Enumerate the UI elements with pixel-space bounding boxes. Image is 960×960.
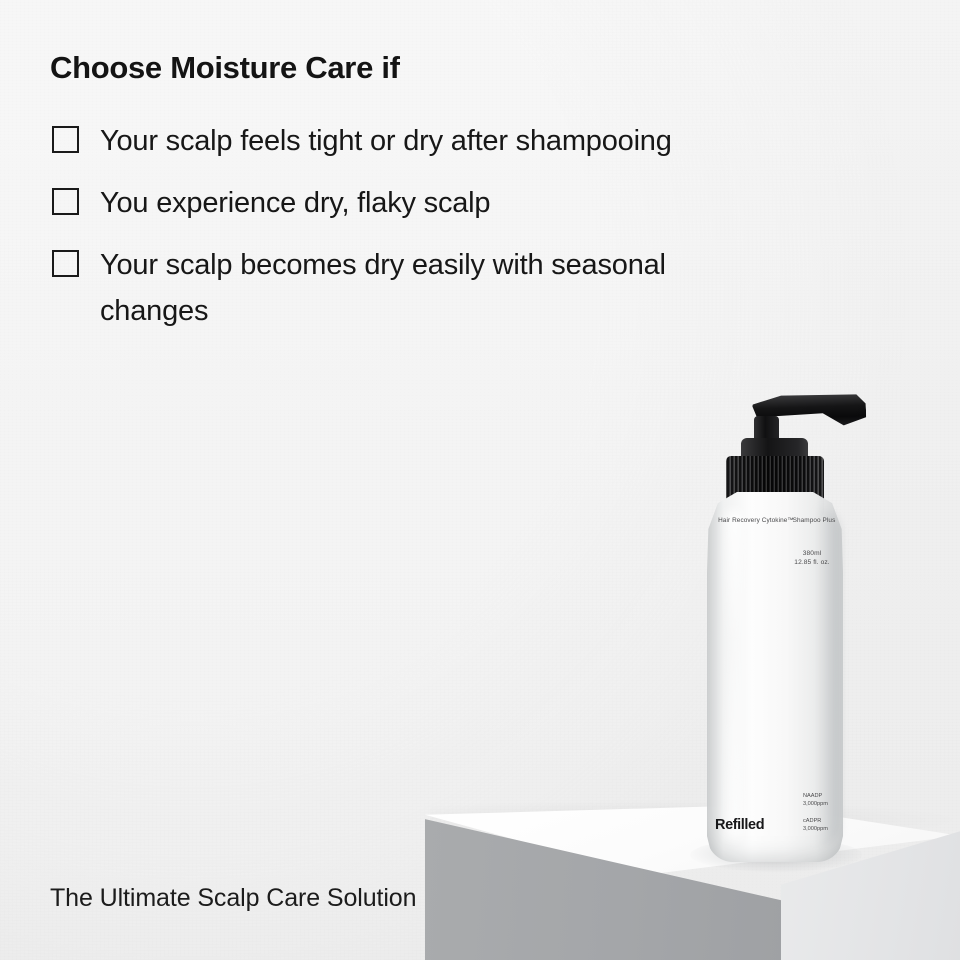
ingredient-cadpr: cADPR 3,000ppm xyxy=(803,817,849,833)
label-product-type: Shampoo Plus xyxy=(788,517,840,526)
product-bottle: Hair Recovery Cytokine™ Shampoo Plus 380… xyxy=(704,380,844,862)
ingredient-naadp: NAADP 3,000ppm xyxy=(803,792,849,808)
brand-logo: Refilled xyxy=(715,817,764,833)
label-volume-oz: 12.85 fl. oz. xyxy=(784,559,840,568)
label-product-technology: Hair Recovery Cytokine™ xyxy=(718,517,794,526)
page-title: Choose Moisture Care if xyxy=(50,50,400,86)
ingredient-name: NAADP xyxy=(803,792,849,800)
benefits-checklist: Your scalp feels tight or dry after sham… xyxy=(52,118,932,350)
list-item[interactable]: Your scalp feels tight or dry after sham… xyxy=(52,118,932,164)
list-item-label: Your scalp feels tight or dry after sham… xyxy=(100,118,672,164)
list-item[interactable]: You experience dry, flaky scalp xyxy=(52,180,932,226)
list-item-label: Your scalp becomes dry easily with seaso… xyxy=(100,242,720,334)
checkbox-icon[interactable] xyxy=(52,126,79,153)
ingredient-amount: 3,000ppm xyxy=(803,800,849,808)
pedestal-cube xyxy=(425,805,960,960)
label-volume-ml: 380ml xyxy=(784,550,840,559)
bottle-highlight xyxy=(726,510,742,840)
checkbox-icon[interactable] xyxy=(52,250,79,277)
ingredient-name: cADPR xyxy=(803,817,849,825)
list-item[interactable]: Your scalp becomes dry easily with seaso… xyxy=(52,242,932,334)
label-volume: 380ml 12.85 fl. oz. xyxy=(784,550,840,568)
list-item-label: You experience dry, flaky scalp xyxy=(100,180,490,226)
product-promo-card: Choose Moisture Care if Your scalp feels… xyxy=(0,0,960,960)
ingredient-amount: 3,000ppm xyxy=(803,825,849,833)
checkbox-icon[interactable] xyxy=(52,188,79,215)
footer-tagline: The Ultimate Scalp Care Solution xyxy=(50,884,416,913)
